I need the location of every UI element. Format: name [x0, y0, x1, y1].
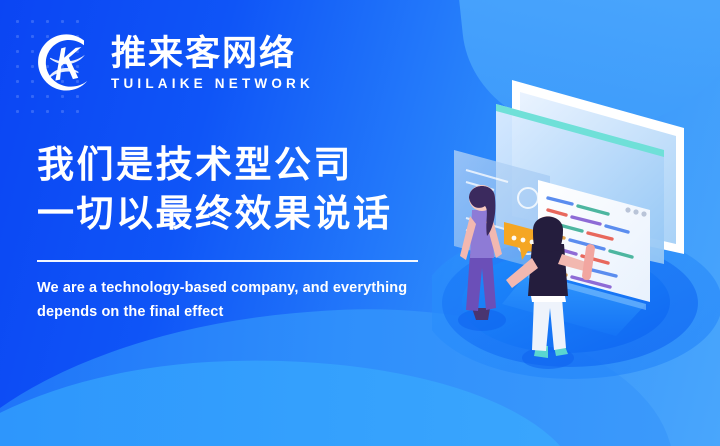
subcopy-block: We are a technology-based company, and e…: [37, 277, 467, 324]
headline-line-1: 我们是技术型公司: [37, 140, 467, 189]
brand-logo-text: 推来客网络 TUILAIKE NETWORK: [111, 35, 314, 92]
isometric-scene-svg: [432, 58, 720, 388]
headline-line-2: 一切以最终效果说话: [37, 189, 467, 238]
tuilaike-circular-k-mark-icon: [32, 30, 100, 98]
hero-copy-block: 我们是技术型公司 一切以最终效果说话 We are a technology-b…: [37, 140, 467, 324]
brand-logo: 推来客网络 TUILAIKE NETWORK: [32, 30, 314, 98]
promo-banner: 推来客网络 TUILAIKE NETWORK 我们是技术型公司 一切以最终效果说…: [0, 0, 720, 446]
brand-name-cn: 推来客网络: [111, 35, 314, 73]
subcopy-line-1: We are a technology-based company, and e…: [37, 277, 467, 300]
copy-divider-rule: [37, 260, 418, 262]
subcopy-line-2: depends on the final effect: [37, 301, 467, 324]
brand-name-en: TUILAIKE NETWORK: [111, 75, 314, 93]
hero-illustration: [432, 58, 720, 388]
